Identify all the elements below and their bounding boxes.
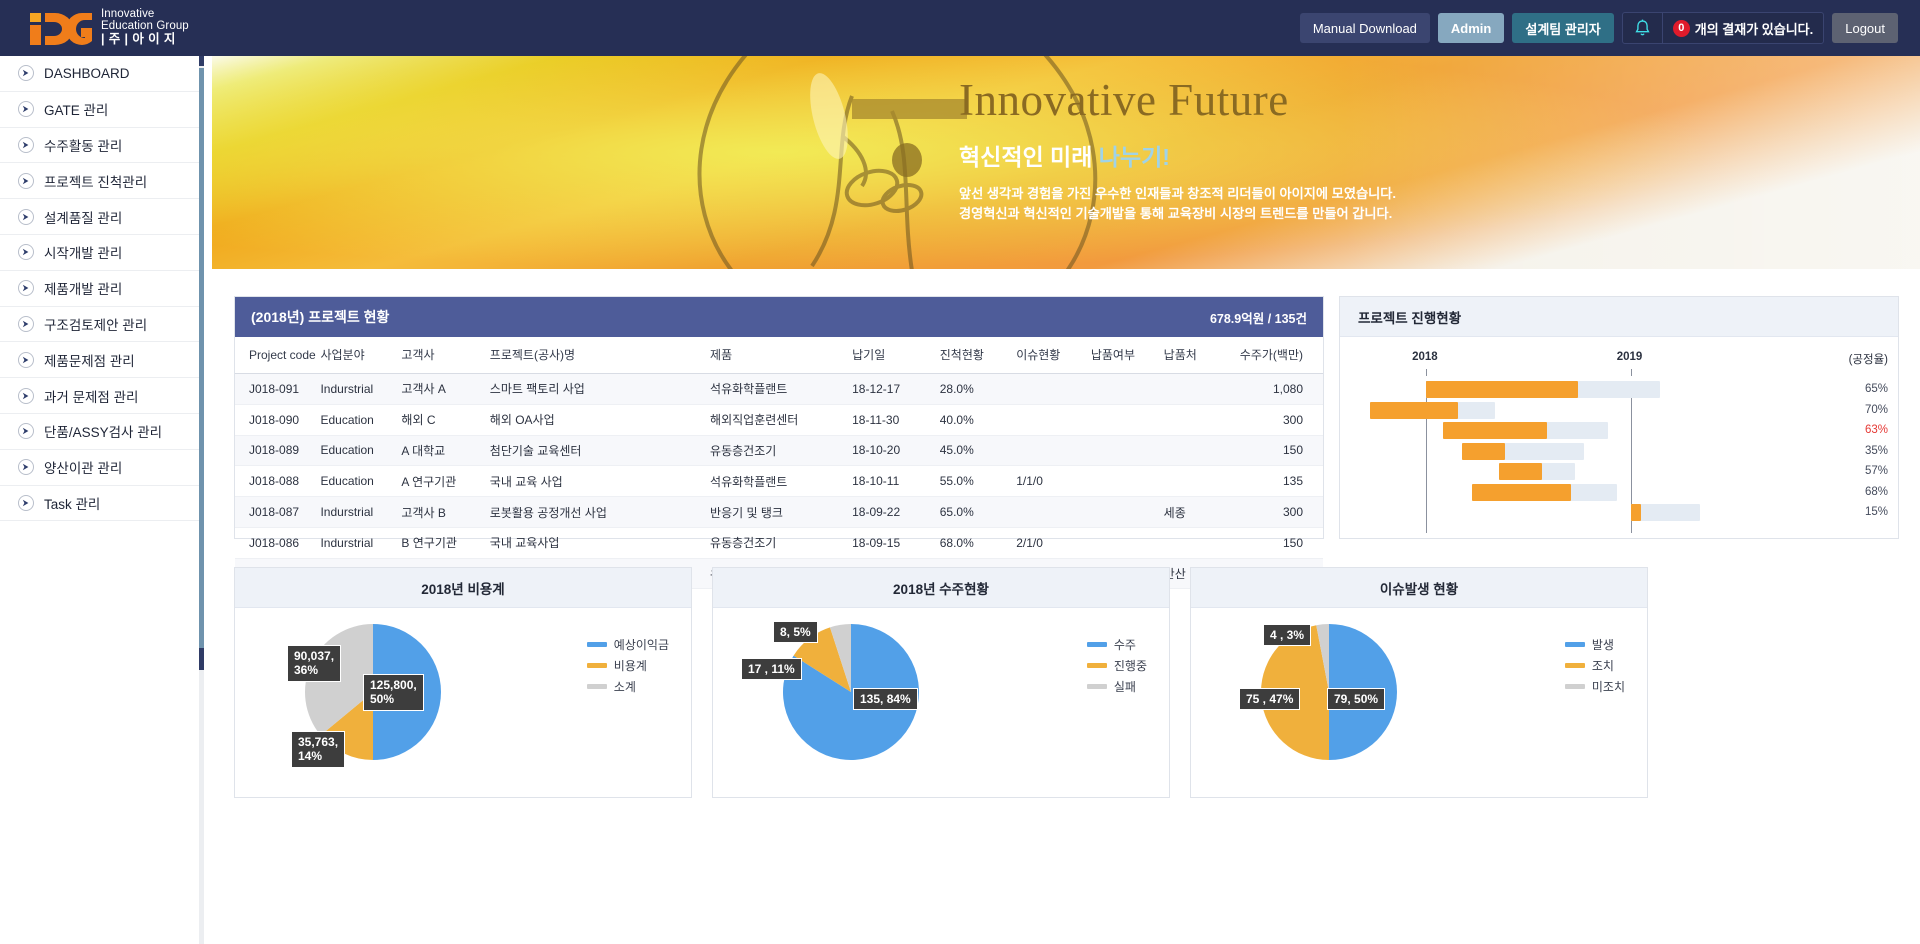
sidebar-item-label: 시작개발 관리 (44, 242, 122, 262)
brand-line-1: Innovative (101, 9, 189, 21)
cell-progress: 65.0% (940, 497, 1016, 528)
legend-swatch-icon (1087, 663, 1107, 668)
legend-item-1[interactable]: 조치 (1565, 657, 1625, 674)
pie-data-label-0: 79, 50% (1327, 688, 1385, 710)
gantt-axis-label-2018: 2018 (1412, 351, 1438, 363)
cell-product: 석유화학플랜트 (710, 466, 852, 497)
cell-delivered (1091, 466, 1164, 497)
brand-logo[interactable]: Innovative Education Group | 주 | 아 이 지 (0, 0, 210, 56)
cell-amount: 150 (1232, 527, 1323, 558)
legend-label: 비용계 (614, 657, 647, 674)
cell-issue (1016, 435, 1091, 466)
project-table-body: J018-091Indurstrial고객사 A스마트 팩토리 사업석유화학플랜… (235, 374, 1323, 589)
issue-pie-body: 발생조치미조치79, 50%75 , 47%4 , 3% (1191, 608, 1647, 797)
pie-data-label-2: 90,037, 36% (287, 645, 341, 682)
notification-text: 0 개의 결재가 있습니다. (1663, 19, 1813, 38)
cell-project: 국내 교육사업 (490, 527, 710, 558)
gantt-bar-progress[interactable] (1370, 402, 1458, 419)
gantt-axis-tick (1426, 369, 1427, 376)
project-col-header-6: 진척현황 (940, 337, 1016, 374)
cell-customer: A 대학교 (401, 435, 489, 466)
sidebar-navigation: DASHBOARDGATE 관리수주활동 관리프로젝트 진척관리설계품질 관리시… (0, 56, 204, 944)
chevron-right-icon (18, 173, 34, 189)
cell-product: 유동층건조기 (710, 435, 852, 466)
banner-subtitle-main: 혁신적인 미래 (959, 144, 1099, 170)
pie-legend: 예상이익금비용계소계 (587, 636, 669, 695)
legend-item-0[interactable]: 발생 (1565, 636, 1625, 653)
team-manager-button[interactable]: 설계팀 관리자 (1512, 13, 1613, 43)
cell-code: J018-089 (235, 435, 320, 466)
legend-swatch-icon (1565, 642, 1585, 647)
cell-issue (1016, 497, 1091, 528)
sidebar-item-6[interactable]: 제품개발 관리 (0, 271, 203, 307)
cell-dest (1164, 466, 1232, 497)
cell-amount: 150 (1232, 435, 1323, 466)
sidebar-item-9[interactable]: 과거 문제점 관리 (0, 378, 203, 414)
cell-biz: Indurstrial (320, 527, 401, 558)
order-pie-title: 2018년 수주현황 (893, 578, 989, 598)
chevron-right-icon (18, 101, 34, 117)
sidebar-item-4[interactable]: 설계품질 관리 (0, 199, 203, 235)
sidebar-item-label: 수주활동 관리 (44, 135, 122, 155)
sidebar-item-label: 단품/ASSY검사 관리 (44, 421, 162, 441)
cell-amount: 300 (1232, 404, 1323, 435)
project-panel-header: (2018년) 프로젝트 현황 678.9억원 / 135건 (235, 297, 1323, 337)
cell-code: J018-090 (235, 404, 320, 435)
cell-progress: 45.0% (940, 435, 1016, 466)
cell-code: J018-088 (235, 466, 320, 497)
table-row[interactable]: J018-087Indurstrial고객사 B로봇활용 공정개선 사업반응기 … (235, 497, 1323, 528)
project-col-header-9: 납품처 (1164, 337, 1232, 374)
pie-data-label-0: 125,800, 50% (363, 674, 424, 711)
sidebar-item-label: 제품문제점 관리 (44, 350, 135, 370)
cell-amount: 135 (1232, 466, 1323, 497)
legend-item-1[interactable]: 진행중 (1087, 657, 1147, 674)
gantt-rate-label: 63% (1842, 424, 1888, 436)
issue-pie-panel: 이슈발생 현황 발생조치미조치79, 50%75 , 47%4 , 3% (1190, 567, 1648, 798)
table-row[interactable]: J018-090Education해외 C해외 OA사업해외직업훈련센터18-1… (235, 404, 1323, 435)
cell-issue: 1/1/0 (1016, 466, 1091, 497)
sidebar-item-11[interactable]: 양산이관 관리 (0, 450, 203, 486)
sidebar-item-0[interactable]: DASHBOARD (0, 56, 203, 92)
legend-item-0[interactable]: 수주 (1087, 636, 1147, 653)
sidebar-item-label: 구조검토제안 관리 (44, 314, 147, 334)
sidebar-item-2[interactable]: 수주활동 관리 (0, 128, 203, 164)
project-col-header-5: 납기일 (852, 337, 940, 374)
legend-item-2[interactable]: 미조치 (1565, 678, 1625, 695)
cell-code: J018-091 (235, 374, 320, 405)
gantt-bar-progress[interactable] (1462, 443, 1505, 460)
cell-due: 18-10-20 (852, 435, 940, 466)
gantt-axis-tick (1631, 369, 1632, 376)
cell-customer: A 연구기관 (401, 466, 489, 497)
legend-label: 실패 (1114, 678, 1136, 695)
project-status-panel: (2018년) 프로젝트 현황 678.9억원 / 135건 Project c… (234, 296, 1324, 539)
cell-code: J018-086 (235, 527, 320, 558)
legend-label: 조치 (1592, 657, 1614, 674)
sidebar-item-label: Task 관리 (44, 493, 100, 513)
cell-due: 18-09-15 (852, 527, 940, 558)
admin-button[interactable]: Admin (1438, 13, 1504, 43)
cell-progress: 55.0% (940, 466, 1016, 497)
gantt-axis-label-2019: 2019 (1617, 351, 1643, 363)
chevron-right-icon (18, 65, 34, 81)
chevron-right-icon (18, 495, 34, 511)
sidebar-item-label: 설계품질 관리 (44, 207, 122, 227)
cell-progress: 40.0% (940, 404, 1016, 435)
pie-legend: 수주진행중실패 (1087, 636, 1147, 695)
cell-product: 유동층건조기 (710, 527, 852, 558)
sidebar-scrollbar-thumb[interactable] (199, 68, 204, 648)
cell-delivered (1091, 435, 1164, 466)
logout-button[interactable]: Logout (1832, 13, 1898, 43)
cell-due: 18-10-11 (852, 466, 940, 497)
legend-item-2[interactable]: 소계 (587, 678, 669, 695)
cell-amount: 1,080 (1232, 374, 1323, 405)
legend-item-0[interactable]: 예상이익금 (587, 636, 669, 653)
banner-subtitle-accent: 나누기! (1099, 144, 1170, 170)
gantt-bar-progress[interactable] (1631, 504, 1641, 521)
chevron-right-icon (18, 316, 34, 332)
cell-delivered (1091, 497, 1164, 528)
banner-text-block: Innovative Future 혁신적인 미래 나누기! 앞선 생각과 경험… (959, 74, 1859, 224)
legend-swatch-icon (587, 642, 607, 647)
cell-issue (1016, 374, 1091, 405)
issue-pie-title: 이슈발생 현황 (1380, 578, 1458, 598)
legend-swatch-icon (1087, 642, 1107, 647)
cell-biz: Indurstrial (320, 374, 401, 405)
table-row[interactable]: J018-086IndurstrialB 연구기관국내 교육사업유동층건조기18… (235, 527, 1323, 558)
gantt-bar-progress[interactable] (1472, 484, 1571, 501)
top-header-bar: Innovative Education Group | 주 | 아 이 지 M… (0, 0, 1920, 56)
notification-count-badge: 0 (1673, 20, 1690, 37)
cell-dest (1164, 527, 1232, 558)
cell-product: 해외직업훈련센터 (710, 404, 852, 435)
chevron-right-icon (18, 423, 34, 439)
cell-delivered (1091, 404, 1164, 435)
cell-project: 해외 OA사업 (490, 404, 710, 435)
gantt-rate-label: 68% (1842, 486, 1888, 498)
sidebar-item-12[interactable]: Task 관리 (0, 486, 203, 522)
banner-title: Innovative Future (959, 74, 1859, 126)
cell-due: 18-11-30 (852, 404, 940, 435)
project-col-header-0: Project code (235, 337, 320, 374)
gantt-panel-header: 프로젝트 진행현황 (1340, 297, 1898, 337)
legend-item-2[interactable]: 실패 (1087, 678, 1147, 695)
gantt-bar-track[interactable] (1631, 504, 1700, 521)
sidebar-item-label: 양산이관 관리 (44, 457, 122, 477)
cell-dest (1164, 404, 1232, 435)
project-panel-title: (2018년) 프로젝트 현황 (251, 307, 389, 327)
legend-item-1[interactable]: 비용계 (587, 657, 669, 674)
gantt-rate-label: 57% (1842, 465, 1888, 477)
project-col-header-7: 이슈현황 (1016, 337, 1091, 374)
chevron-right-icon (18, 209, 34, 225)
project-col-header-1: 사업분야 (320, 337, 401, 374)
cell-delivered (1091, 527, 1164, 558)
cell-dest: 세종 (1164, 497, 1232, 528)
chevron-right-icon (18, 352, 34, 368)
legend-label: 진행중 (1114, 657, 1147, 674)
banner-description-line-2: 경영혁신과 혁신적인 기술개발을 통해 교육장비 시장의 트렌드를 만들어 갑니… (959, 204, 1859, 224)
sidebar-item-5[interactable]: 시작개발 관리 (0, 235, 203, 271)
cell-issue (1016, 404, 1091, 435)
legend-swatch-icon (1565, 684, 1585, 689)
banner-description: 앞선 생각과 경험을 가진 우수한 인재들과 창조적 리더들이 아이지에 모였습… (959, 184, 1859, 224)
brand-line-2: Education Group (101, 21, 189, 33)
gantt-rate-label: 35% (1842, 445, 1888, 457)
gantt-bar-progress[interactable] (1443, 422, 1547, 439)
gantt-rate-label: 15% (1842, 506, 1888, 518)
project-col-header-8: 납품여부 (1091, 337, 1164, 374)
cell-delivered (1091, 374, 1164, 405)
legend-swatch-icon (1565, 663, 1585, 668)
logo-mark-icon (30, 11, 92, 45)
project-col-header-3: 프로젝트(공사)명 (490, 337, 710, 374)
gantt-rate-label: 65% (1842, 383, 1888, 395)
gantt-rate-header: (공정율) (1849, 351, 1888, 367)
cost-pie-header: 2018년 비용계 (235, 568, 691, 608)
project-progress-panel: 프로젝트 진행현황 20182019(공정율)65%70%63%35%57%68… (1339, 296, 1899, 539)
sidebar-item-8[interactable]: 제품문제점 관리 (0, 342, 203, 378)
legend-label: 예상이익금 (614, 636, 669, 653)
order-pie-header: 2018년 수주현황 (713, 568, 1169, 608)
chevron-right-icon (18, 280, 34, 296)
table-row[interactable]: J018-088EducationA 연구기관국내 교육 사업석유화학플랜트18… (235, 466, 1323, 497)
legend-label: 미조치 (1592, 678, 1625, 695)
notification-box[interactable]: 0 개의 결재가 있습니다. (1622, 12, 1824, 44)
chevron-right-icon (18, 459, 34, 475)
project-col-header-4: 제품 (710, 337, 852, 374)
project-col-header-10: 수주가(백만) (1232, 337, 1323, 374)
order-pie-panel: 2018년 수주현황 수주진행중실패135, 84%17 , 11%8, 5% (712, 567, 1170, 798)
gantt-bar-progress[interactable] (1426, 381, 1578, 398)
pie-data-label-1: 35,763, 14% (291, 731, 345, 768)
cell-product: 반응기 및 탱크 (710, 497, 852, 528)
cost-pie-panel: 2018년 비용계 예상이익금비용계소계125,800, 50%35,763, … (234, 567, 692, 798)
gantt-rate-label: 70% (1842, 404, 1888, 416)
table-row[interactable]: J018-089EducationA 대학교첨단기술 교육센터유동층건조기18-… (235, 435, 1323, 466)
legend-label: 발생 (1592, 636, 1614, 653)
cell-customer: B 연구기관 (401, 527, 489, 558)
chevron-right-icon (18, 244, 34, 260)
sidebar-item-10[interactable]: 단품/ASSY검사 관리 (0, 414, 203, 450)
project-col-header-2: 고객사 (401, 337, 489, 374)
header-actions: Manual Download Admin 설계팀 관리자 0 개의 결재가 있… (1300, 0, 1898, 56)
sidebar-item-label: GATE 관리 (44, 99, 108, 119)
legend-label: 소계 (614, 678, 636, 695)
sidebar-item-3[interactable]: 프로젝트 진척관리 (0, 163, 203, 199)
gantt-bar-progress[interactable] (1499, 463, 1542, 480)
legend-swatch-icon (587, 663, 607, 668)
pie-data-label-2: 4 , 3% (1263, 624, 1311, 646)
cell-biz: Education (320, 404, 401, 435)
cell-code: J018-087 (235, 497, 320, 528)
cell-project: 첨단기술 교육센터 (490, 435, 710, 466)
brand-line-3: | 주 | 아 이 지 (101, 33, 189, 46)
legend-label: 수주 (1114, 636, 1136, 653)
cell-product: 석유화학플랜트 (710, 374, 852, 405)
cell-dest (1164, 374, 1232, 405)
banner-subtitle: 혁신적인 미래 나누기! (959, 138, 1859, 172)
dashboard-main-area: (2018년) 프로젝트 현황 678.9억원 / 135건 Project c… (212, 269, 1920, 944)
cost-pie-body: 예상이익금비용계소계125,800, 50%35,763, 14%90,037,… (235, 608, 691, 797)
manual-download-button[interactable]: Manual Download (1300, 13, 1430, 43)
pie-data-label-0: 135, 84% (853, 688, 918, 710)
notification-message: 개의 결재가 있습니다. (1695, 19, 1813, 38)
cell-progress: 68.0% (940, 527, 1016, 558)
cost-pie-title: 2018년 비용계 (421, 578, 504, 598)
project-table-header-row: Project code사업분야고객사프로젝트(공사)명제품납기일진척현황이슈현… (235, 337, 1323, 374)
cell-due: 18-09-22 (852, 497, 940, 528)
cell-issue: 2/1/0 (1016, 527, 1091, 558)
bell-icon[interactable] (1623, 13, 1663, 43)
sidebar-item-1[interactable]: GATE 관리 (0, 92, 203, 128)
chevron-right-icon (18, 137, 34, 153)
cell-customer: 고객사 B (401, 497, 489, 528)
cell-biz: Education (320, 435, 401, 466)
legend-swatch-icon (1087, 684, 1107, 689)
sidebar-item-label: 과거 문제점 관리 (44, 386, 138, 406)
cell-project: 국내 교육 사업 (490, 466, 710, 497)
project-panel-summary: 678.9억원 / 135건 (1210, 308, 1307, 327)
cell-biz: Indurstrial (320, 497, 401, 528)
sidebar-scroll-bottom-cap (199, 648, 204, 670)
gantt-panel-title: 프로젝트 진행현황 (1358, 307, 1461, 327)
cell-due: 18-12-17 (852, 374, 940, 405)
cell-progress: 28.0% (940, 374, 1016, 405)
hero-banner: Innovative Future 혁신적인 미래 나누기! 앞선 생각과 경험… (212, 56, 1920, 269)
sidebar-item-label: 프로젝트 진척관리 (44, 171, 147, 191)
pie-data-label-1: 17 , 11% (741, 658, 802, 680)
project-table: Project code사업분야고객사프로젝트(공사)명제품납기일진척현황이슈현… (235, 337, 1323, 589)
issue-pie-header: 이슈발생 현황 (1191, 568, 1647, 608)
sidebar-item-label: DASHBOARD (44, 66, 130, 81)
pie-data-label-2: 8, 5% (773, 621, 818, 643)
sidebar-item-label: 제품개발 관리 (44, 278, 122, 298)
gantt-chart: 20182019(공정율)65%70%63%35%57%68%15% (1340, 337, 1898, 538)
cell-customer: 고객사 A (401, 374, 489, 405)
banner-description-line-1: 앞선 생각과 경험을 가진 우수한 인재들과 창조적 리더들이 아이지에 모였습… (959, 184, 1859, 204)
cell-customer: 해외 C (401, 404, 489, 435)
table-row[interactable]: J018-091Indurstrial고객사 A스마트 팩토리 사업석유화학플랜… (235, 374, 1323, 405)
pie-legend: 발생조치미조치 (1565, 636, 1625, 695)
cell-amount: 300 (1232, 497, 1323, 528)
cell-project: 로봇활용 공정개선 사업 (490, 497, 710, 528)
sidebar-item-7[interactable]: 구조검토제안 관리 (0, 307, 203, 343)
pie-data-label-1: 75 , 47% (1239, 688, 1300, 710)
order-pie-body: 수주진행중실패135, 84%17 , 11%8, 5% (713, 608, 1169, 797)
legend-swatch-icon (587, 684, 607, 689)
sidebar-scroll-top-cap (199, 56, 204, 66)
cell-biz: Education (320, 466, 401, 497)
chevron-right-icon (18, 388, 34, 404)
cell-project: 스마트 팩토리 사업 (490, 374, 710, 405)
cell-dest (1164, 435, 1232, 466)
